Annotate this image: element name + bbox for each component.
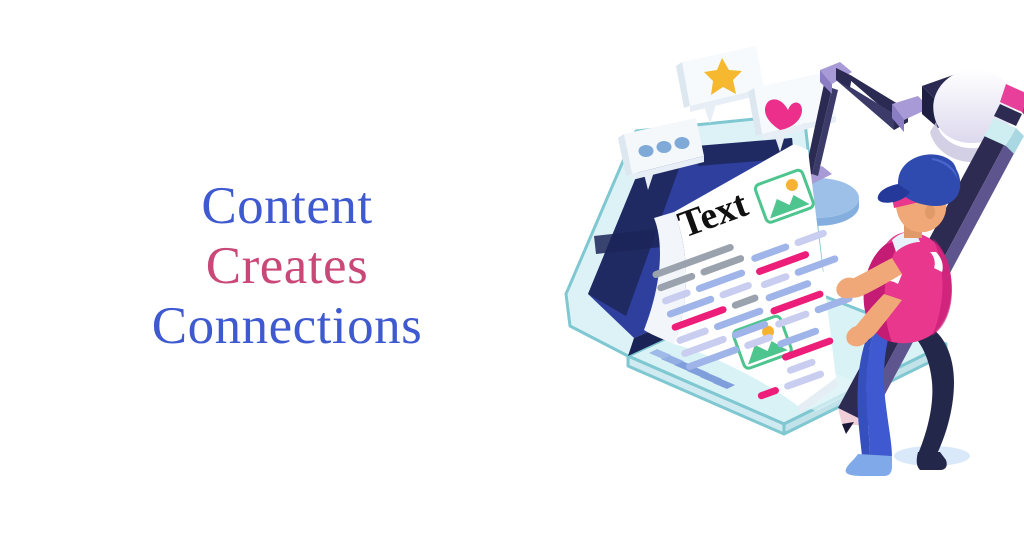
headline-line-1: Content — [62, 176, 512, 236]
page-root: Content Creates Connections — [0, 0, 1024, 536]
person-shoe-front — [846, 454, 892, 476]
bubble-dot-3 — [675, 137, 690, 149]
headline-line-3: Connections — [62, 296, 512, 356]
bubble-dot-2 — [657, 141, 672, 153]
pencil-graphite — [842, 422, 854, 434]
content-creation-illustration: Text — [536, 26, 1024, 506]
speech-bubble-star — [676, 46, 764, 124]
headline-line-2: Creates — [62, 236, 512, 296]
bubble-dot-1 — [639, 145, 654, 157]
headline-block: Content Creates Connections — [62, 176, 512, 356]
